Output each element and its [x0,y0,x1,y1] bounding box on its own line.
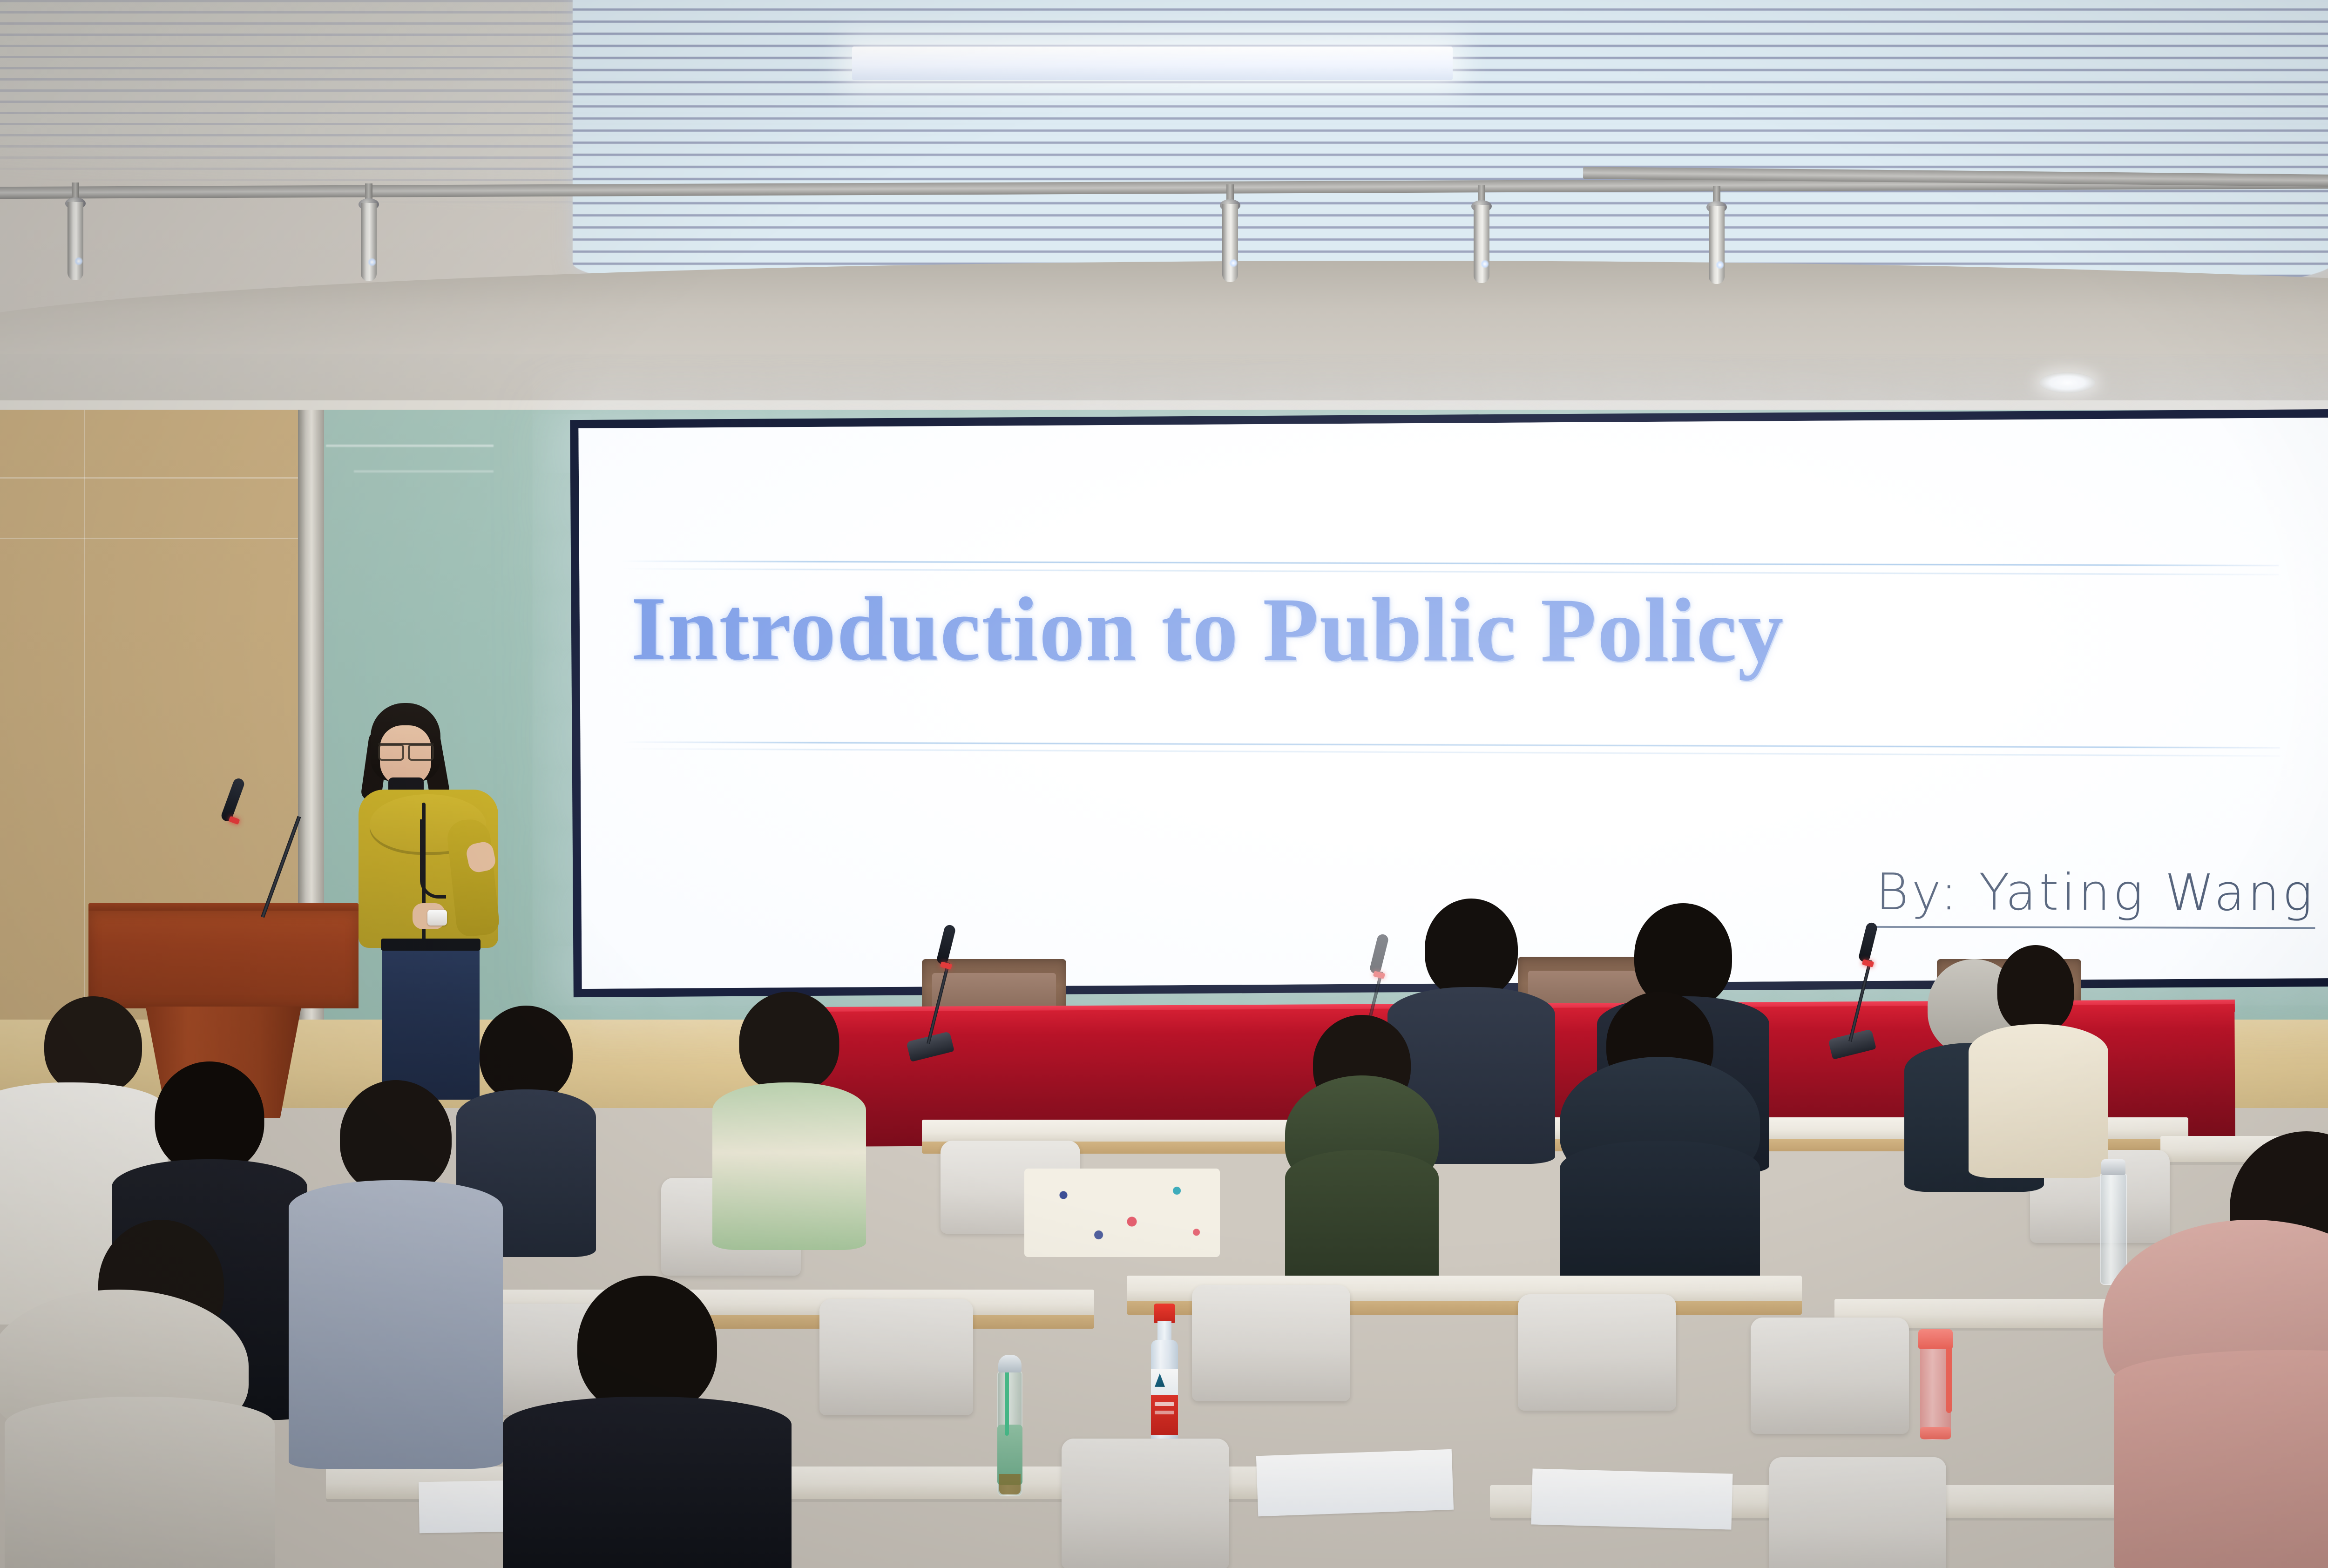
audience-chair [1751,1318,1909,1434]
patterned-tote-bag [1024,1169,1220,1257]
attendee-black-coat-front [503,1276,792,1568]
glasses-icon [378,743,434,756]
recessed-downlight-icon [2039,372,2095,393]
panel-seam [0,538,321,539]
audience-chair [1192,1285,1350,1401]
slide-byline: By: Yating Wang [1875,863,2315,929]
wall-light-reflection [326,445,494,447]
attendee-dark-puffer [1560,992,1760,1271]
paper-sheet [1531,1468,1733,1529]
attendee-cream-coat [1946,945,2091,1164]
paper-sheet [1256,1449,1454,1517]
slide-title: Introduction to Public Policy [631,576,2260,684]
presentation-clicker [427,910,447,926]
panel-seam [84,410,85,1071]
audience-chair [819,1299,973,1415]
attendee-green-sweater [712,992,866,1234]
audience-chair [1518,1294,1676,1411]
wall-light-reflection [354,470,494,473]
panel-seam [0,477,321,479]
lecture-hall-photo: Introduction to Public Policy By: Yating… [0,0,2328,1568]
audience-chair [1769,1457,1946,1568]
attendee-pink-puffer [2114,1131,2328,1568]
ceiling-strip-light [852,47,1453,80]
audience-chair [1062,1439,1229,1568]
attendee-grey-blue [289,1080,503,1462]
attendee-cream-puffer [5,1220,275,1568]
attendee-olive-hood [1285,1015,1439,1262]
